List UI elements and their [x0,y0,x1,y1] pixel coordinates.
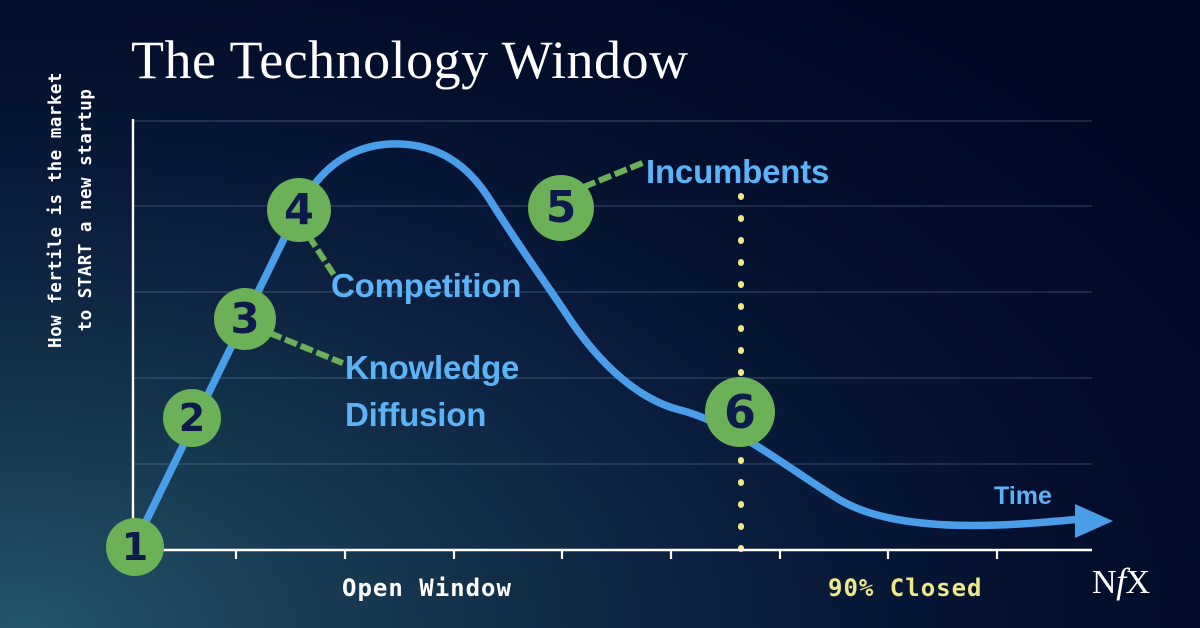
node-4[interactable]: 4 [267,178,331,242]
infographic-canvas: The Technology Window How fertile is the… [0,0,1200,628]
node-2-label: 2 [179,399,205,437]
logo-x: X [1126,564,1150,601]
x-axis-ticks [236,550,997,559]
gridlines [133,121,1092,464]
connector-to-competition [310,238,332,272]
connector-to-incumbents [586,164,640,186]
node-1-label: 1 [122,528,148,566]
node-6[interactable]: 6 [705,377,775,447]
node-3[interactable]: 3 [214,288,276,350]
x-axis-open-window-label: Open Window [342,573,512,603]
chart-plot [0,0,1200,628]
time-arrow-head [1075,504,1113,538]
node-1[interactable]: 1 [106,518,164,576]
connector-to-knowledge [272,334,340,362]
callout-incumbents: Incumbents [646,148,829,195]
logo-f: f [1116,561,1126,601]
callout-competition: Competition [331,262,521,309]
node-5[interactable]: 5 [528,175,594,241]
node-6-label: 6 [724,389,756,435]
node-3-label: 3 [230,298,259,340]
x-axis-arrow-label: Time [994,481,1052,511]
node-4-label: 4 [284,189,314,232]
x-axis-closed-label: 90% Closed [828,573,983,603]
node-2[interactable]: 2 [163,389,221,447]
logo-n: N [1092,564,1116,601]
callout-knowledge-diffusion: Knowledge Diffusion [345,344,519,438]
nfx-logo: NfX [1092,562,1150,602]
node-5-label: 5 [546,186,577,230]
